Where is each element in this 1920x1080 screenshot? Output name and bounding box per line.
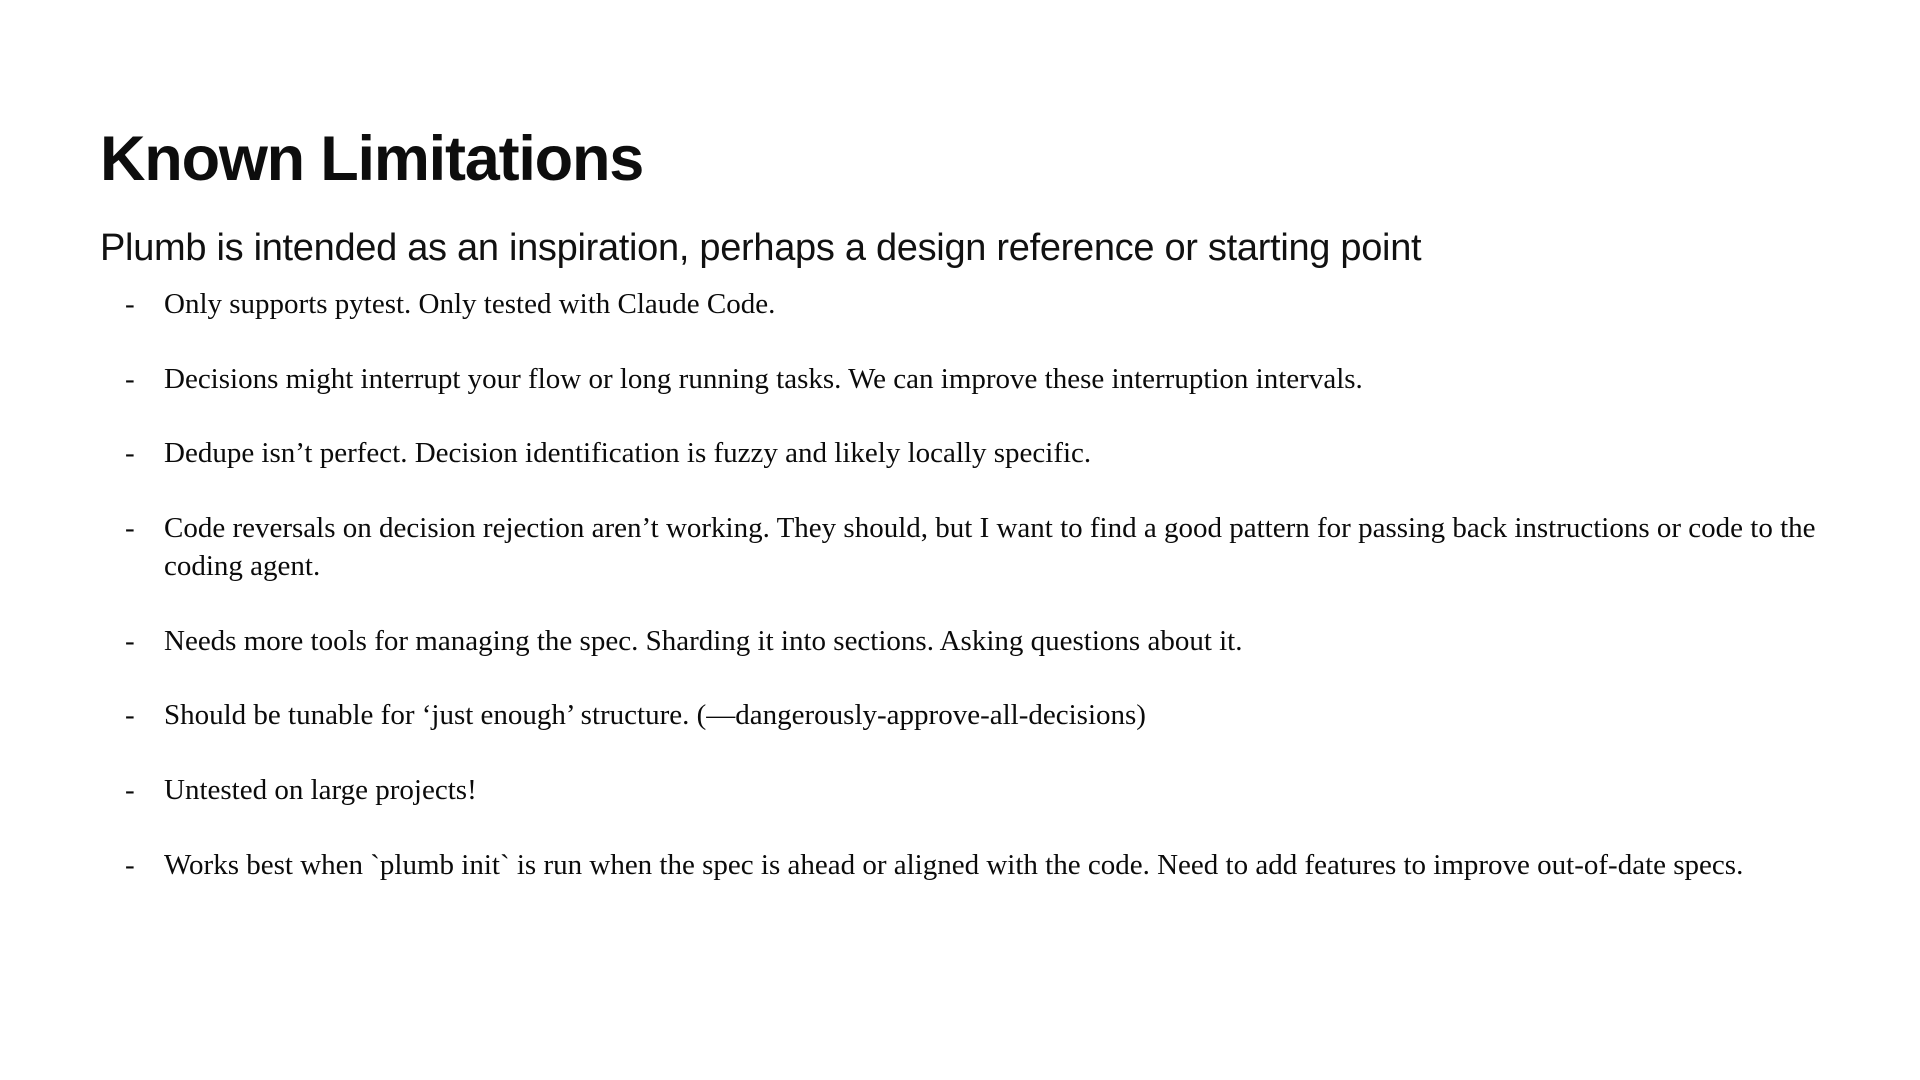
presentation-slide: Known Limitations Plumb is intended as a… bbox=[0, 0, 1920, 1080]
list-item: - Works best when `plumb init` is run wh… bbox=[122, 846, 1822, 885]
list-item-text: Should be tunable for ‘just enough’ stru… bbox=[164, 696, 1822, 735]
slide-subtitle: Plumb is intended as an inspiration, per… bbox=[100, 228, 1421, 270]
list-item: - Dedupe isn’t perfect. Decision identif… bbox=[122, 434, 1822, 473]
list-item-text: Untested on large projects! bbox=[164, 771, 1822, 810]
bullet-marker-icon: - bbox=[125, 509, 135, 548]
list-item-text: Works best when `plumb init` is run when… bbox=[164, 846, 1822, 885]
bullet-marker-icon: - bbox=[125, 846, 135, 885]
bullet-marker-icon: - bbox=[125, 771, 135, 810]
list-item: - Decisions might interrupt your flow or… bbox=[122, 360, 1822, 399]
bullet-marker-icon: - bbox=[125, 285, 135, 324]
list-item: - Untested on large projects! bbox=[122, 771, 1822, 810]
page-title: Known Limitations bbox=[100, 128, 643, 191]
list-item-text: Only supports pytest. Only tested with C… bbox=[164, 285, 1822, 324]
bullet-marker-icon: - bbox=[125, 696, 135, 735]
bullet-marker-icon: - bbox=[125, 360, 135, 399]
bullet-marker-icon: - bbox=[125, 622, 135, 661]
list-item-text: Decisions might interrupt your flow or l… bbox=[164, 360, 1822, 399]
list-item-text: Needs more tools for managing the spec. … bbox=[164, 622, 1822, 661]
list-item: - Should be tunable for ‘just enough’ st… bbox=[122, 696, 1822, 735]
limitations-list: - Only supports pytest. Only tested with… bbox=[122, 285, 1822, 884]
list-item-text: Dedupe isn’t perfect. Decision identific… bbox=[164, 434, 1822, 473]
bullet-marker-icon: - bbox=[125, 434, 135, 473]
list-item-text: Code reversals on decision rejection are… bbox=[164, 509, 1822, 586]
list-item: - Code reversals on decision rejection a… bbox=[122, 509, 1822, 586]
list-item: - Needs more tools for managing the spec… bbox=[122, 622, 1822, 661]
list-item: - Only supports pytest. Only tested with… bbox=[122, 285, 1822, 324]
